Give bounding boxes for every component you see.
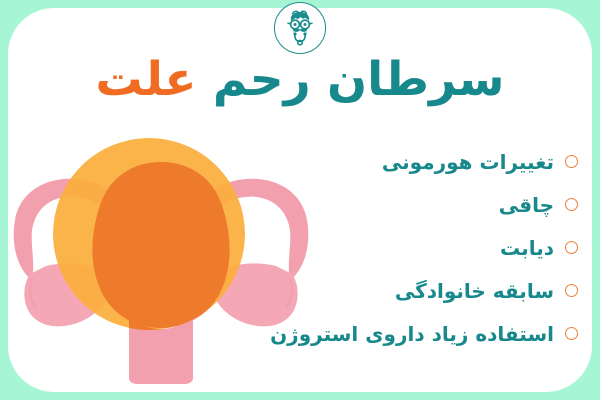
page-title: سرطان رحم علت bbox=[0, 55, 600, 105]
bullet-circle-icon bbox=[565, 241, 578, 254]
infographic-canvas: سرطان رحم علت bbox=[0, 0, 600, 400]
bullet-circle-icon bbox=[565, 327, 578, 340]
doctor-face-icon bbox=[279, 7, 321, 49]
list-item[interactable]: سابقه خانوادگی bbox=[248, 269, 578, 312]
list-item[interactable]: چاقی bbox=[248, 183, 578, 226]
bullet-circle-icon bbox=[565, 284, 578, 297]
list-item[interactable]: تغییرات هورمونی bbox=[248, 140, 578, 183]
doctor-face-logo[interactable] bbox=[274, 2, 326, 54]
list-item[interactable]: استفاده زیاد داروی استروژن bbox=[248, 312, 578, 355]
list-item-label: استفاده زیاد داروی استروژن bbox=[270, 324, 554, 344]
list-item-label: چاقی bbox=[499, 195, 554, 215]
list-item-label: دیابت bbox=[500, 238, 554, 258]
bullet-circle-icon bbox=[565, 198, 578, 211]
bullet-circle-icon bbox=[565, 155, 578, 168]
title-highlight: علت bbox=[95, 52, 196, 107]
list-item-label: سابقه خانوادگی bbox=[395, 281, 554, 301]
title-rest: سرطان رحم bbox=[213, 52, 505, 107]
list-item[interactable]: دیابت bbox=[248, 226, 578, 269]
causes-list: تغییرات هورمونی چاقی دیابت سابقه خانوادگ… bbox=[248, 140, 578, 355]
list-item-label: تغییرات هورمونی bbox=[382, 152, 554, 172]
